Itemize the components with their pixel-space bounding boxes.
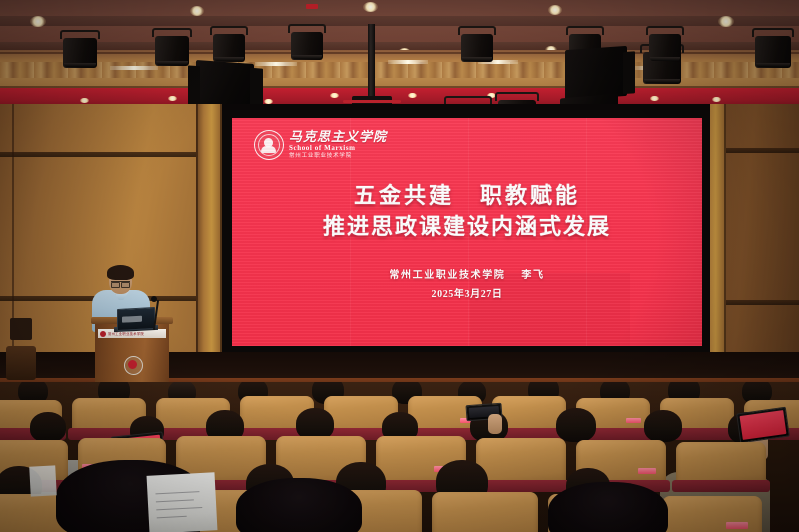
light-lens <box>214 57 244 61</box>
paper-text-line <box>155 491 199 494</box>
laptop-screen <box>117 307 155 331</box>
audience-handout-paper <box>147 472 218 532</box>
slide-date: 2025年3月27日 <box>232 285 702 304</box>
podium-emblem-icon <box>124 356 143 375</box>
light-body <box>649 34 681 62</box>
pillar-edge <box>724 104 726 394</box>
stage-pillar-left <box>196 104 222 390</box>
audience-seating <box>0 382 799 532</box>
light-lens <box>650 57 680 61</box>
light-lens <box>756 63 790 67</box>
presenter-hair <box>107 265 134 280</box>
slide-presenter: 李飞 <box>521 270 544 281</box>
wall-strip-light <box>110 66 158 70</box>
audience-head <box>644 410 682 442</box>
logo-english-name: School of Marxism <box>289 145 387 152</box>
wall-strip-light <box>388 60 428 64</box>
stage-chair <box>6 346 36 380</box>
logo-chinese-name: 马克思主义学院 <box>289 130 387 143</box>
audience-hand <box>488 414 502 434</box>
light-lens <box>156 61 188 65</box>
paper-text-line <box>156 499 194 502</box>
wall-strip-light <box>255 62 297 66</box>
light-body <box>461 34 493 62</box>
ceiling-downlight <box>718 16 734 27</box>
presenter-glasses <box>111 281 130 286</box>
soffit-downlight <box>168 96 177 101</box>
foreground-audience-hair <box>236 478 362 532</box>
slide-affiliation: 常州工业职业技术学院 <box>389 270 505 281</box>
paper-text-line <box>157 516 187 519</box>
light-body <box>63 38 97 68</box>
light-lens <box>64 63 96 67</box>
light-body <box>755 36 791 68</box>
marxism-school-seal-icon <box>254 130 284 160</box>
soffit-downlight <box>330 93 339 98</box>
podium: 常州工业职业技术学院 <box>95 322 169 388</box>
light-body <box>291 32 323 60</box>
seat-number-tag <box>726 522 748 529</box>
audience-head <box>30 412 66 442</box>
soffit-downlight <box>408 93 417 98</box>
soffit-downlight <box>712 97 721 102</box>
ceiling-downlight <box>30 16 46 27</box>
paper-text-line <box>156 507 202 510</box>
podium-seal-icon <box>100 331 106 337</box>
ceiling-indicator-light <box>306 4 318 9</box>
slide-footer: 常州工业职业技术学院李飞 2025年3月27日 <box>232 266 702 304</box>
seal-figure-icon <box>264 138 273 147</box>
slide-title-line1-part1: 五金共建 <box>354 183 454 208</box>
soffit-downlight <box>650 96 659 101</box>
audience-handout-paper <box>29 465 57 496</box>
microphone-head <box>151 296 157 302</box>
stage-equipment-box <box>10 318 32 340</box>
auditorium-seat[interactable] <box>476 438 566 490</box>
auditorium-seat[interactable] <box>676 442 766 490</box>
phone-screen <box>740 410 787 440</box>
foreground-audience-hair <box>548 482 668 532</box>
projector-mount-pole <box>368 24 375 102</box>
slide-title: 五金共建职教赋能 推进思政课建设内涵式发展 <box>232 180 702 242</box>
logo-text-block: 马克思主义学院 School of Marxism 常州工业职业技术学院 <box>289 130 387 160</box>
soffit-downlight <box>80 98 89 103</box>
ceiling-downlight <box>548 5 562 15</box>
ceiling-downlight <box>190 6 204 16</box>
ceiling-beam <box>0 16 799 26</box>
light-lens <box>292 55 322 59</box>
auditorium-seat[interactable] <box>432 492 538 532</box>
pillar-edge <box>196 104 198 390</box>
led-screen: 马克思主义学院 School of Marxism 常州工业职业技术学院 五金共… <box>232 118 702 346</box>
seat-trim <box>672 480 770 492</box>
speaker-flap <box>188 65 200 106</box>
seat-number-tag <box>626 418 641 423</box>
auditorium-photo: EPSON 马克思主义学院 Scho <box>0 0 799 532</box>
line-array-speaker <box>565 46 627 100</box>
light-body <box>155 36 189 66</box>
audience-head <box>556 408 596 442</box>
logo-institution-name: 常州工业职业技术学院 <box>289 154 387 160</box>
light-body <box>213 34 245 62</box>
slide-title-line1-part2: 职教赋能 <box>480 183 580 208</box>
ceiling-downlight <box>363 2 378 12</box>
light-lens <box>462 57 492 61</box>
slide-title-line2: 推进思政课建设内涵式发展 <box>232 211 702 242</box>
slide-logo: 马克思主义学院 School of Marxism 常州工业职业技术学院 <box>254 130 387 160</box>
speaker-flap <box>623 51 635 94</box>
auditorium-seat[interactable] <box>662 496 762 532</box>
wall-divider <box>0 152 200 157</box>
light-lens <box>644 79 680 83</box>
seat-number-tag <box>638 468 656 474</box>
wall-seam <box>12 104 14 384</box>
